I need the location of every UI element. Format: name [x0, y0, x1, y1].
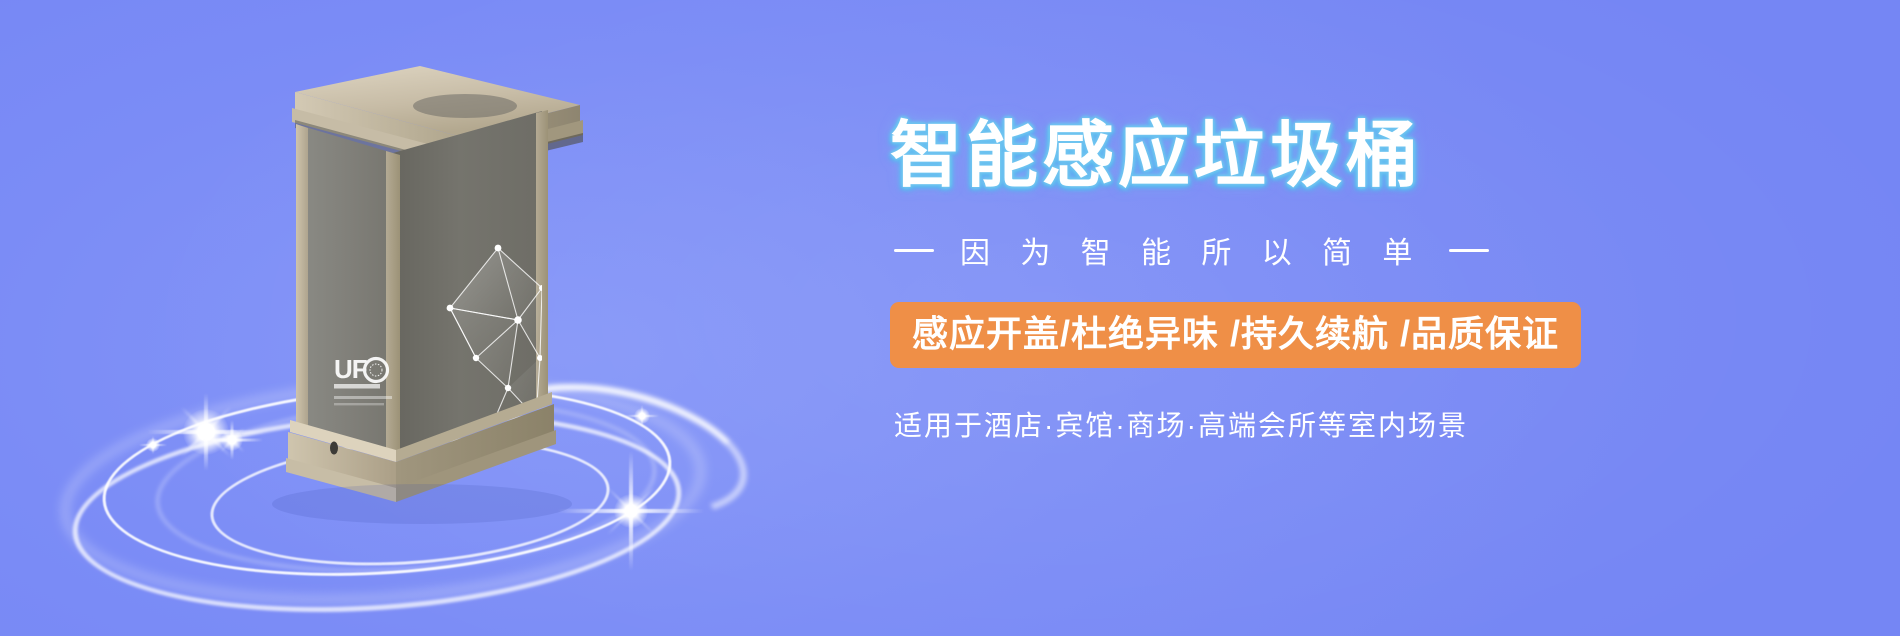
- subtitle-text: 因 为 智 能 所 以 简 单: [960, 228, 1423, 272]
- page-title: 智能感应垃圾桶: [890, 120, 1850, 192]
- bin-brand-logo: UF: [334, 354, 392, 405]
- bin-body-front-panel: [302, 126, 393, 456]
- bin-trim-left-post: [296, 124, 308, 432]
- subtitle-row: 因 为 智 能 所 以 简 单: [890, 228, 1850, 272]
- product-image-smart-trash-bin: UF: [250, 58, 620, 488]
- feature-highlight-text: 感应开盖/杜绝异味 /持久续航 /品质保证: [912, 313, 1559, 354]
- bin-trim-center-post: [386, 151, 400, 458]
- subtitle-rule-right: [1449, 249, 1489, 252]
- feature-highlight-badge: 感应开盖/杜绝异味 /持久续航 /品质保证: [890, 302, 1581, 368]
- svg-text:UF: UF: [334, 354, 367, 384]
- bin-sensor-port: [330, 442, 338, 455]
- promo-banner: UF 智能感应垃圾桶 因 为 智 能 所 以 简 单: [0, 0, 1900, 636]
- bin-base-shadow: [272, 484, 572, 524]
- subtitle-rule-left: [894, 249, 934, 252]
- banner-copy-block: 智能感应垃圾桶 因 为 智 能 所 以 简 单 感应开盖/杜绝异味 /持久续航 …: [890, 120, 1850, 444]
- bin-lid-opening: [413, 94, 517, 118]
- use-case-text: 适用于酒店·宾馆·商场·高端会所等室内场景: [890, 404, 1850, 444]
